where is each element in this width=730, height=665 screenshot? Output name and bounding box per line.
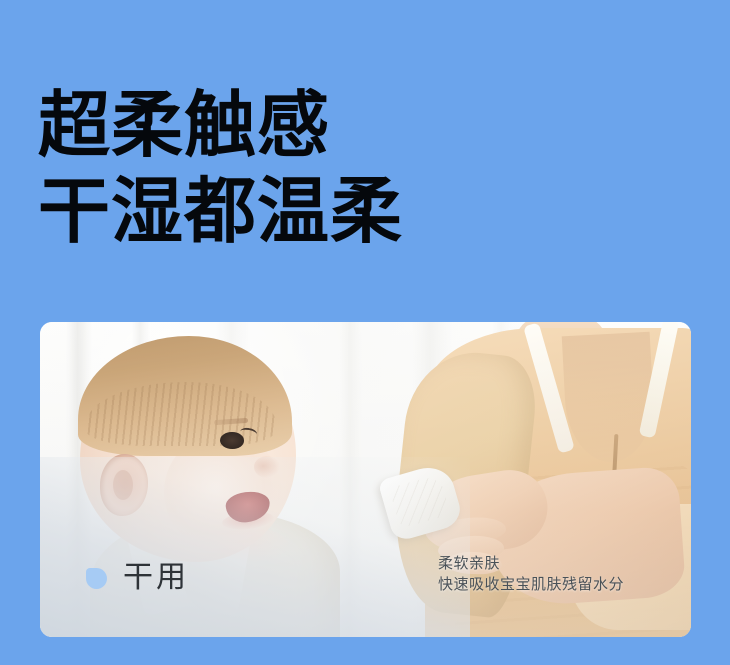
baby-hair: [78, 336, 292, 456]
benefit-title: 柔软亲肤: [438, 553, 624, 574]
product-photo-card: 干用 柔软亲肤 快速吸收宝宝肌肤残留水分: [40, 322, 691, 637]
baby-nose: [254, 456, 280, 478]
benefit-description: 快速吸收宝宝肌肤残留水分: [438, 574, 624, 595]
usage-mode-label: 干用: [86, 563, 189, 593]
benefit-caption: 柔软亲肤 快速吸收宝宝肌肤残留水分: [438, 553, 624, 595]
baby-chin: [218, 528, 288, 562]
headline-line-1: 超柔触感: [38, 82, 598, 168]
headline-line-2: 干湿都温柔: [38, 168, 598, 254]
droplet-icon: [86, 568, 107, 589]
usage-mode-text: 干用: [123, 563, 189, 593]
page-title: 超柔触感 干湿都温柔: [38, 82, 598, 254]
